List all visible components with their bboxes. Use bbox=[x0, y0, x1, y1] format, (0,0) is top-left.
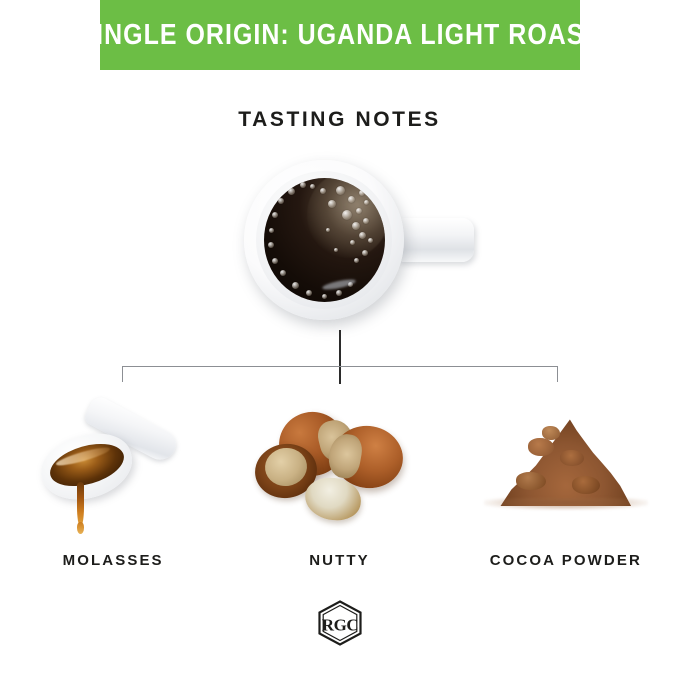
tasting-notes-list: MOLASSES NUTTY bbox=[0, 386, 679, 569]
coffee-cup-top-view-icon bbox=[236, 160, 486, 320]
cocoa-dust bbox=[484, 498, 648, 510]
logo-monogram: RGC bbox=[321, 616, 358, 635]
tasting-note-label: COCOA POWDER bbox=[490, 552, 642, 569]
bracket-horizontal bbox=[122, 366, 558, 367]
bracket-connector bbox=[120, 330, 560, 388]
rgc-logo-icon: RGC bbox=[318, 600, 362, 646]
section-title: TASTING NOTES bbox=[0, 108, 679, 132]
molasses-spoon-icon bbox=[23, 386, 203, 536]
cup-body bbox=[244, 160, 404, 320]
cocoa-powder-heap-icon bbox=[476, 386, 656, 536]
bracket-tick-right bbox=[557, 366, 558, 382]
cup-handle bbox=[396, 218, 474, 262]
bracket-tick-left bbox=[122, 366, 123, 382]
header-banner: SINGLE ORIGIN: UGANDA LIGHT ROAST bbox=[100, 0, 580, 70]
hazelnuts-icon bbox=[249, 386, 429, 536]
banner-title: SINGLE ORIGIN: UGANDA LIGHT ROAST bbox=[79, 21, 601, 50]
syrup-drip-tip bbox=[77, 522, 84, 534]
tasting-note-label: MOLASSES bbox=[63, 552, 164, 569]
tasting-notes-page: SINGLE ORIGIN: UGANDA LIGHT ROAST TASTIN… bbox=[0, 0, 679, 679]
tasting-note-item: COCOA POWDER bbox=[453, 386, 679, 569]
syrup-drip bbox=[77, 482, 84, 526]
tasting-note-item: NUTTY bbox=[226, 386, 452, 569]
bracket-stem bbox=[339, 330, 341, 384]
tasting-note-label: NUTTY bbox=[309, 552, 370, 569]
coffee-surface bbox=[264, 178, 385, 302]
tasting-note-item: MOLASSES bbox=[0, 386, 226, 569]
